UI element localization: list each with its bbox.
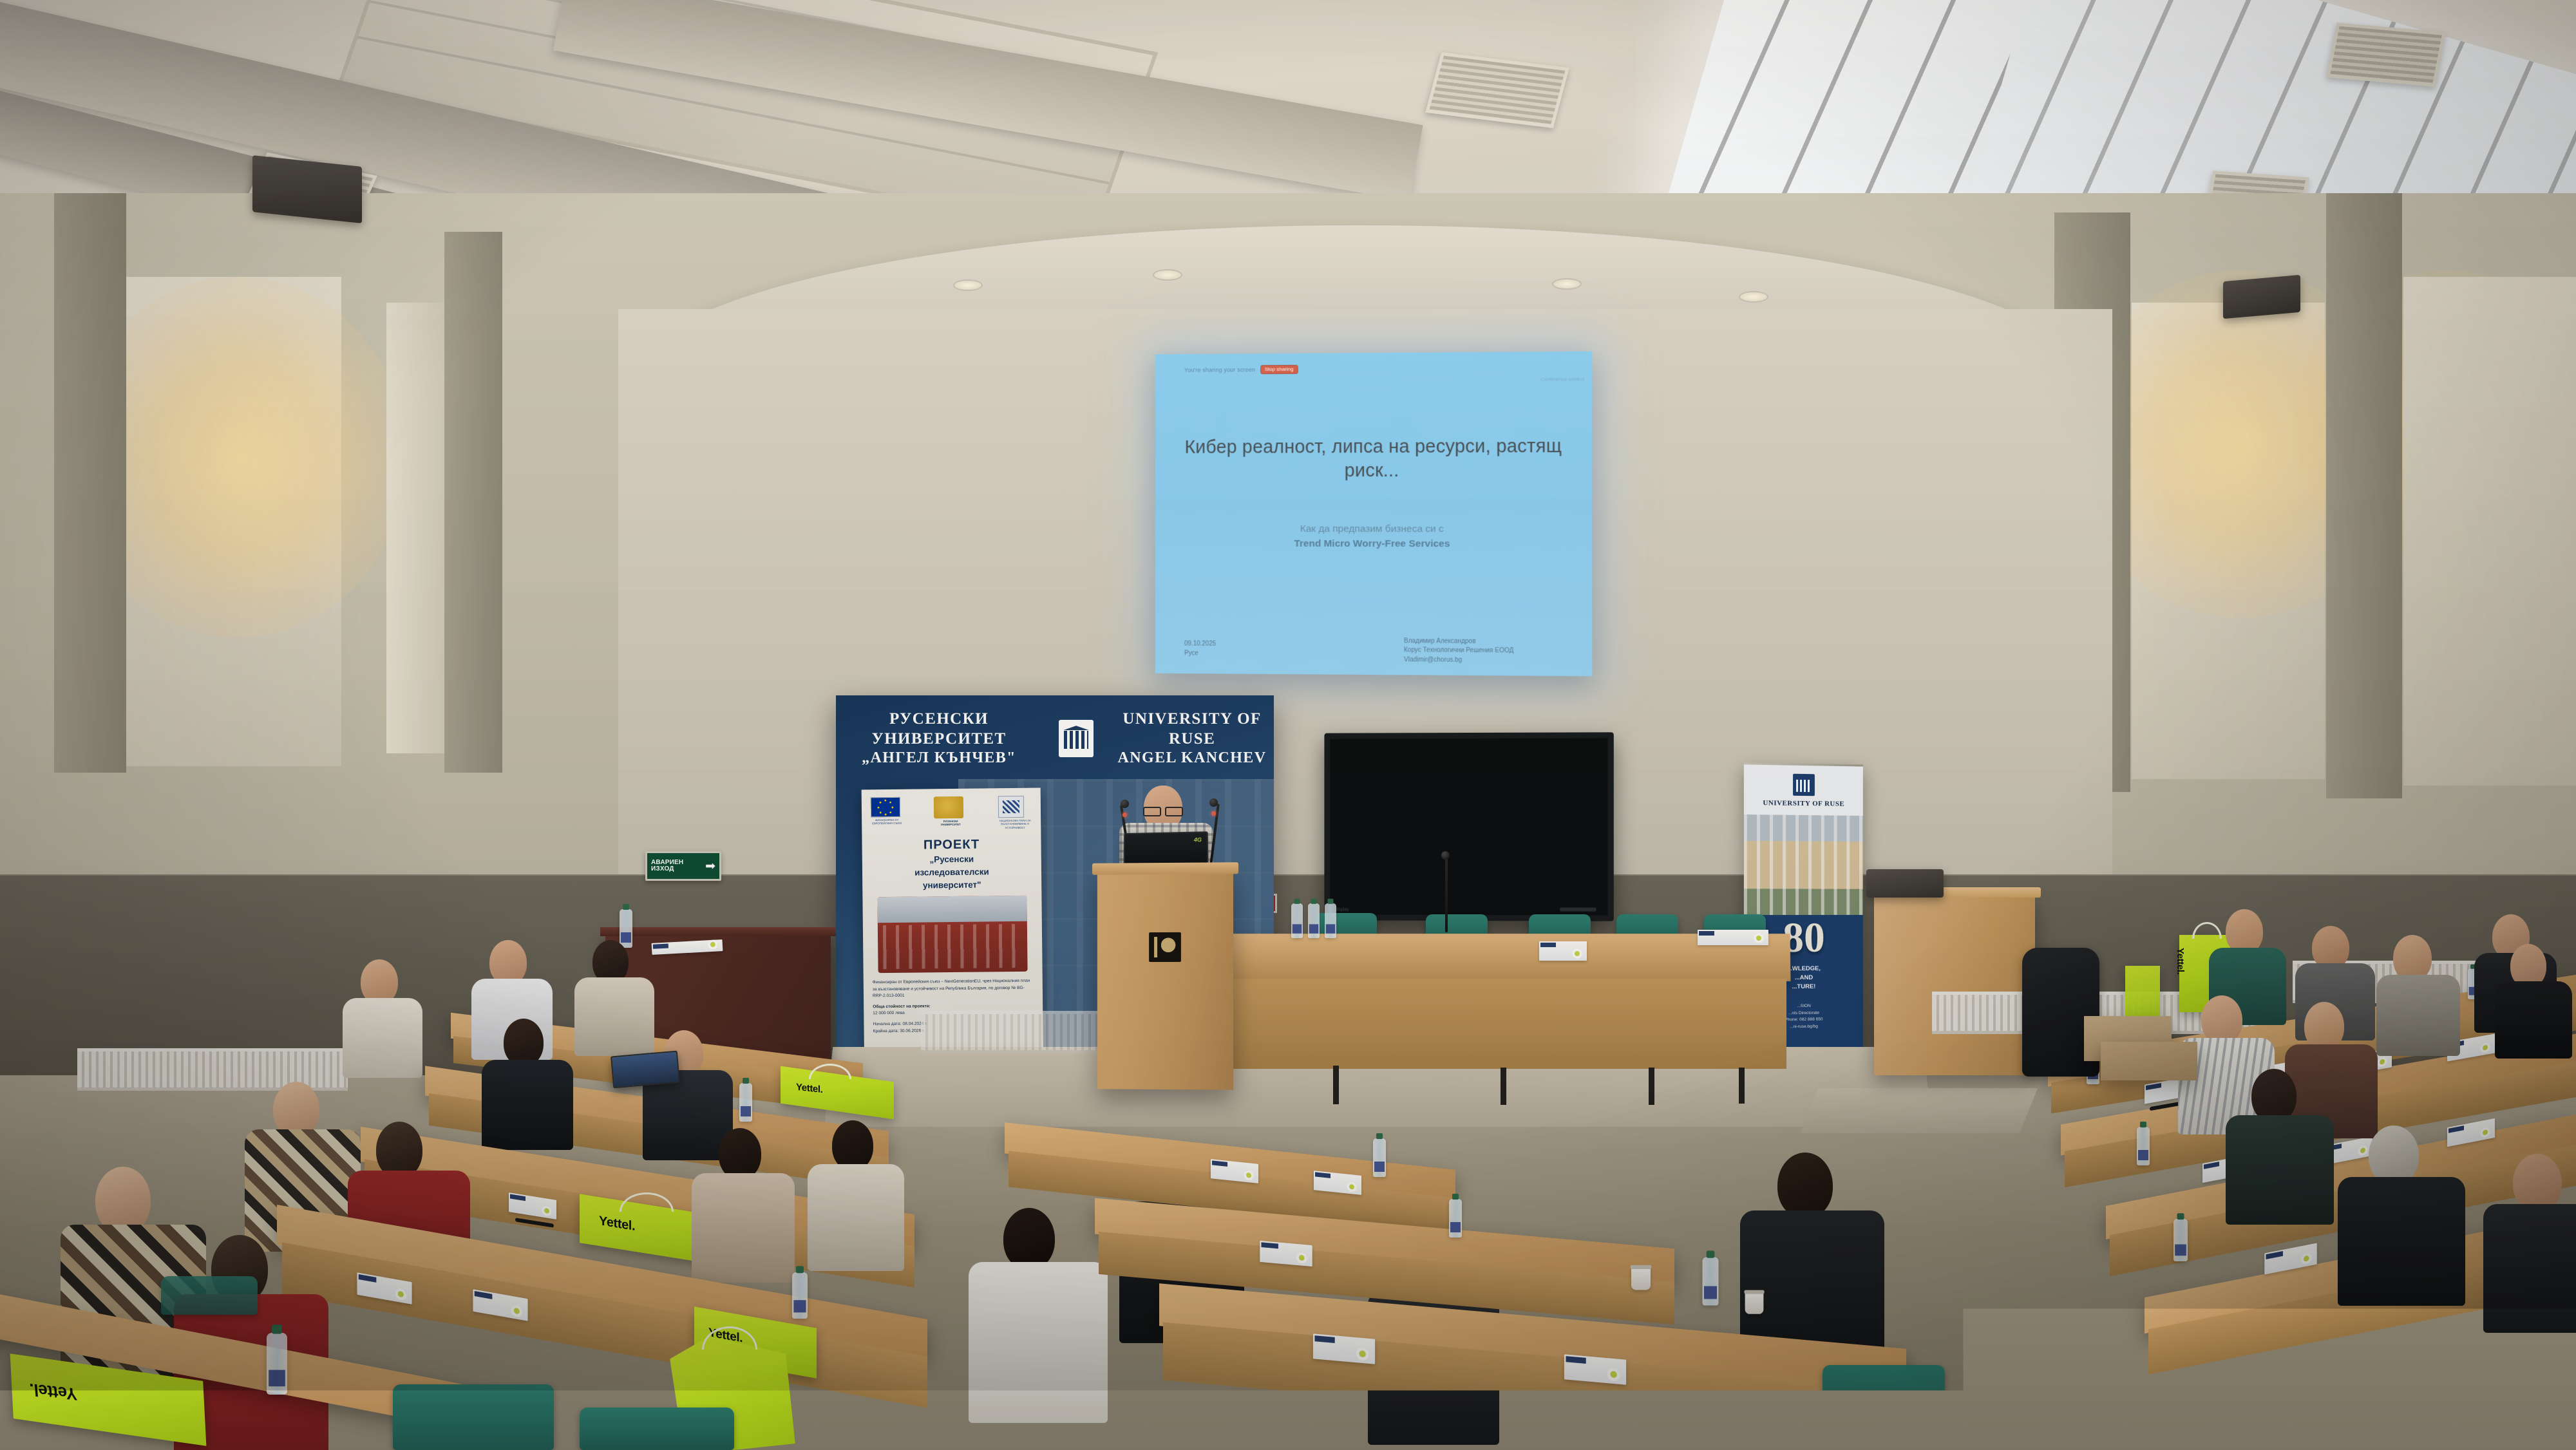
hvac-vent-icon <box>2326 23 2446 87</box>
water-bottle[interactable] <box>1308 903 1320 938</box>
eu-logo-caption: ФИНАНСИРАН ОТ ЕВРОПЕЙСКИЯ СЪЮЗ <box>871 818 903 825</box>
poster-start-label: Начална дата: <box>873 1022 901 1026</box>
slide-title: Кибер реалност, липса на ресурси, растящ… <box>1155 435 1592 484</box>
microphone-head-icon <box>1209 798 1218 807</box>
poster-building-image <box>877 896 1027 973</box>
conference-handout[interactable] <box>1539 941 1587 961</box>
audience-chair[interactable] <box>161 1276 258 1315</box>
water-bottle[interactable] <box>267 1333 287 1395</box>
water-bottle[interactable] <box>1291 903 1303 938</box>
display-brand-mark: display <box>1335 907 1349 912</box>
water-bottle[interactable] <box>1325 903 1336 938</box>
conference-handout[interactable] <box>1698 930 1768 945</box>
slide-date-block: 09.10.2025 Русе <box>1184 639 1216 658</box>
slide-city: Русе <box>1184 649 1216 659</box>
screen-share-bar: You're sharing your screen Stop sharing <box>1184 362 1376 377</box>
conference-handout[interactable] <box>1260 1241 1312 1266</box>
poster-end-label: Крайна дата: <box>873 1029 899 1033</box>
wall-panel <box>2403 277 2576 786</box>
wall-pilaster <box>444 232 502 773</box>
ru-logo-caption: РУСЕНСКИ УНИВЕРСИТЕТ <box>934 820 967 827</box>
poster-funding-text: Финансиран от Европейския съюз – NextGen… <box>873 978 1034 999</box>
emergency-exit-sign: АВАРИЕН ИЗХОД ➡ <box>645 851 721 881</box>
microphone-head-icon <box>1121 800 1129 808</box>
poster-title-block: ПРОЕКТ „Русенски изследователски универс… <box>871 836 1032 891</box>
recessed-downlight-icon <box>1739 291 1768 303</box>
water-bottle[interactable] <box>2137 1127 2150 1165</box>
recessed-downlight-icon <box>1552 278 1582 290</box>
water-bottle[interactable] <box>1449 1199 1462 1238</box>
exit-arrow-icon: ➡ <box>705 860 715 872</box>
wall-panel <box>386 303 444 753</box>
paper-cup[interactable] <box>1745 1292 1764 1314</box>
slide-surface: You're sharing your screen Stop sharing … <box>1155 352 1592 677</box>
recessed-downlight-icon <box>953 279 983 291</box>
yettel-bag-label: Yettel. <box>29 1379 78 1404</box>
banner-name-bg: РУСЕНСКИ УНИВЕРСИТЕТ „АНГЕЛ КЪНЧЕВ" <box>836 710 1042 767</box>
ru-logo-block: РУСЕНСКИ УНИВЕРСИТЕТ <box>934 796 967 827</box>
slide-author-company: Корус Технологични Решения ЕООД <box>1404 646 1513 656</box>
poster-subtitle-line2: изследователски <box>871 866 1032 878</box>
university-emblem-icon <box>1793 774 1815 796</box>
share-message: You're sharing your screen <box>1184 366 1255 373</box>
slide-subtitle: Как да предпазим бизнеса си с Trend Micr… <box>1155 522 1592 552</box>
yettel-bag-label: Yettel. <box>2175 948 2186 974</box>
banner-bg-line2: „АНГЕЛ КЪНЧЕВ" <box>836 749 1042 767</box>
banner-bg-line1: РУСЕНСКИ УНИВЕРСИТЕТ <box>836 710 1042 749</box>
slide-subtitle-line2: Trend Micro Worry-Free Services <box>1294 538 1450 549</box>
wall-radiator <box>77 1048 348 1091</box>
water-bottle[interactable] <box>792 1272 808 1319</box>
eu-logo-block: ФИНАНСИРАН ОТ ЕВРОПЕЙСКИЯ СЪЮЗ <box>871 797 903 825</box>
side-desk <box>1874 895 2035 1075</box>
conference-handout[interactable] <box>1313 1333 1375 1364</box>
lecture-hall-photo: You're sharing your screen Stop sharing … <box>0 0 2576 1450</box>
wall-panel <box>2132 303 2325 779</box>
conference-handout[interactable] <box>1564 1354 1626 1384</box>
banner-header: РУСЕНСКИ УНИВЕРСИТЕТ „АНГЕЛ КЪНЧЕВ" UNIV… <box>836 710 1274 767</box>
microphone-led-icon <box>1122 813 1127 817</box>
water-bottle[interactable] <box>1703 1257 1719 1306</box>
recessed-downlight-icon <box>1153 269 1182 281</box>
table-leg <box>1333 1066 1339 1104</box>
console-top <box>600 927 836 936</box>
anniversary-banner-title: UNIVERSITY OF RUSE <box>1744 799 1863 808</box>
banner-en-line1: UNIVERSITY OF RUSE <box>1110 710 1274 749</box>
np-logo-caption: НАЦИОНАЛЕН ПЛАН ЗА ВЪЗСТАНОВЯВАНЕ И УСТО… <box>998 819 1032 829</box>
audience-chair[interactable] <box>580 1408 734 1450</box>
slide-subtitle-line1: Как да предпазим бизнеса си с <box>1300 523 1444 534</box>
display-control-strip <box>1560 907 1596 911</box>
poster-cost-label: Обща стойност на проекта: <box>873 1004 931 1009</box>
gooseneck-microphone <box>1445 856 1448 932</box>
water-bottle[interactable] <box>739 1083 752 1122</box>
microphone-head-icon <box>1441 851 1450 860</box>
projection-screen: You're sharing your screen Stop sharing … <box>1155 352 1592 677</box>
ceiling-speaker <box>252 155 362 223</box>
ruse-university-logo-icon <box>934 796 963 818</box>
stage-step <box>1801 1088 2038 1133</box>
table-leg <box>1649 1068 1654 1105</box>
water-bottle[interactable] <box>1373 1138 1386 1177</box>
slide-author-email: Vladimir@chorus.bg <box>1404 655 1513 666</box>
desk-equipment <box>1866 869 1944 898</box>
banner-en-line2: ANGEL KANCHEV <box>1110 749 1274 767</box>
wall-pilaster <box>2326 193 2402 798</box>
audience-chair[interactable] <box>1823 1365 1945 1450</box>
banner-name-en: UNIVERSITY OF RUSE ANGEL KANCHEV <box>1110 710 1274 767</box>
poster-subtitle-line3: университет" <box>871 879 1032 891</box>
slide-author-name: Владимир Александров <box>1404 637 1513 646</box>
np-logo-block: НАЦИОНАЛЕН ПЛАН ЗА ВЪЗСТАНОВЯВАНЕ И УСТО… <box>998 796 1032 829</box>
wall-pilaster <box>54 193 126 773</box>
water-bottle[interactable] <box>2173 1219 2188 1261</box>
wall-panel <box>122 277 341 766</box>
water-bottle[interactable] <box>620 909 632 948</box>
head-table-front <box>1227 979 1786 1069</box>
slide-author-block: Владимир Александров Корус Технологични … <box>1404 637 1513 666</box>
poster-title: ПРОЕКТ <box>871 836 1032 853</box>
national-plan-logo-icon <box>998 796 1024 818</box>
anniversary-banner-photo <box>1744 814 1863 915</box>
audience-chair[interactable] <box>393 1384 554 1450</box>
microphone-led-icon <box>1211 811 1216 816</box>
stop-sharing-button[interactable]: Stop sharing <box>1260 365 1298 374</box>
slide-corner-note: Conference control <box>1540 376 1585 382</box>
university-emblem-icon <box>1059 720 1094 757</box>
table-leg <box>1501 1068 1506 1105</box>
lectern <box>1097 870 1233 1089</box>
exit-sign-line2: ИЗХОД <box>651 866 683 873</box>
poster-cost-value: 12 000 000 лева <box>873 1011 905 1016</box>
laptop-badge: 4G <box>1194 836 1202 843</box>
slide-date: 09.10.2025 <box>1184 639 1216 649</box>
flat-panel-display[interactable]: display <box>1324 732 1613 921</box>
table-leg <box>1739 1068 1745 1104</box>
glasses-icon <box>1143 807 1183 814</box>
yettel-bag-label: Yettel. <box>796 1082 822 1095</box>
yettel-bag-label: Yettel. <box>599 1214 635 1234</box>
lectern-top <box>1092 862 1238 875</box>
poster-logo-row: ФИНАНСИРАН ОТ ЕВРОПЕЙСКИЯ СЪЮЗ РУСЕНСКИ … <box>871 796 1032 831</box>
paper-cup[interactable] <box>1631 1268 1651 1290</box>
university-emblem-icon <box>1149 932 1181 962</box>
cardboard-box <box>2101 1042 2197 1080</box>
audience-laptop[interactable] <box>611 1051 680 1089</box>
ceiling-speaker <box>2223 275 2300 319</box>
poster-subtitle-line1: „Русенски <box>871 853 1032 865</box>
eu-flag-icon <box>871 797 900 817</box>
